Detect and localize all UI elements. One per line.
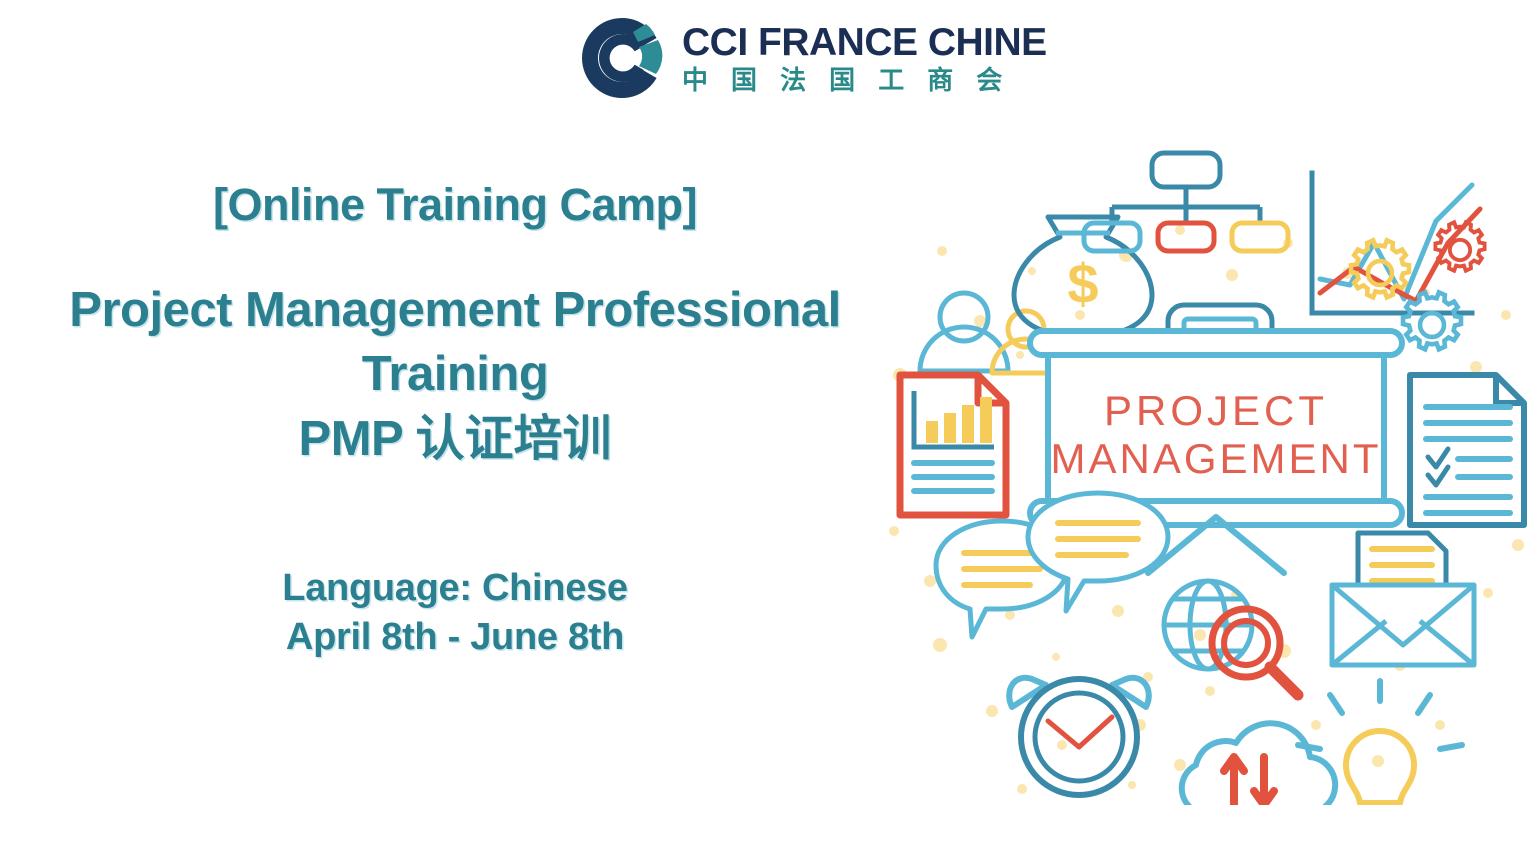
money-bag-symbol: $ xyxy=(1067,252,1098,315)
page-title-line-2: Training xyxy=(0,342,910,407)
cropped-bottom-graphic xyxy=(1050,822,1450,864)
envelope-letter-icon xyxy=(1332,533,1474,665)
project-management-illustration: $ xyxy=(880,125,1536,805)
cci-france-chine-logo[interactable]: CCI FRANCE CHINE 中 国 法 国 工 商 会 xyxy=(576,12,976,104)
logo-brand-cn: 中 国 法 国 工 商 会 xyxy=(682,68,1047,94)
banner-root: CCI FRANCE CHINE 中 国 法 国 工 商 会 [Online T… xyxy=(0,0,1536,864)
board-title-line-1: PROJECT xyxy=(1104,387,1328,434)
language-label: Language: Chinese xyxy=(0,564,910,613)
date-range-label: April 8th - June 8th xyxy=(0,613,910,662)
course-meta: Language: Chinese April 8th - June 8th xyxy=(0,564,910,663)
page-title-chinese-han: 认证培训 xyxy=(415,410,611,467)
eyebrow-label: [Online Training Camp] xyxy=(0,180,910,230)
alarm-clock-icon xyxy=(1009,678,1149,795)
page-title-chinese-latin: PMP xyxy=(299,412,416,466)
logo-brand-en: CCI FRANCE CHINE xyxy=(682,23,1047,62)
cloud-sync-icon xyxy=(1182,723,1335,805)
headline-block: [Online Training Camp] Project Managemen… xyxy=(0,180,910,662)
org-chart-icon xyxy=(1084,153,1288,251)
page-title-chinese: PMP 认证培训 xyxy=(0,407,910,472)
bar-chart-document-icon xyxy=(900,375,1006,515)
cci-circular-c-logo-icon xyxy=(576,12,668,104)
page-title-line-1: Project Management Professional xyxy=(0,278,910,343)
board-title-line-2: MANAGEMENT xyxy=(1050,435,1381,482)
logo-wordmark: CCI FRANCE CHINE 中 国 法 国 工 商 会 xyxy=(682,23,1047,94)
globe-search-icon xyxy=(1164,581,1298,695)
checklist-document-icon xyxy=(1410,375,1524,525)
